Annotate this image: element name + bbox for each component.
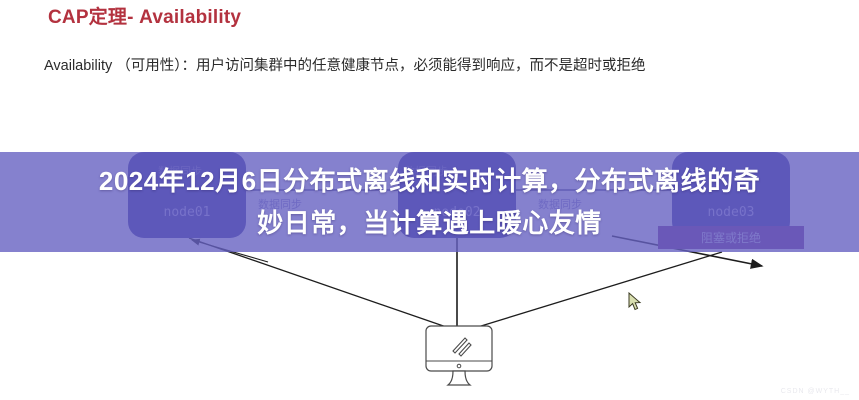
watermark: CSDN @WYTH__ (781, 388, 850, 395)
mouse-pointer-icon (628, 292, 642, 316)
slide-page: CAP定理- Availability Availability （可用性）：用… (0, 0, 859, 400)
desktop-monitor-icon (423, 325, 495, 392)
overlay-headline-line2: 妙日常，当计算遇上暖心友情 (0, 202, 859, 244)
line-node03-client (468, 252, 722, 330)
overlay-headline-line1: 2024年12月6日分布式离线和实时计算，分布式离线的奇 (0, 160, 859, 202)
overlay-headline: 2024年12月6日分布式离线和实时计算，分布式离线的奇 妙日常，当计算遇上暖心… (0, 160, 859, 244)
